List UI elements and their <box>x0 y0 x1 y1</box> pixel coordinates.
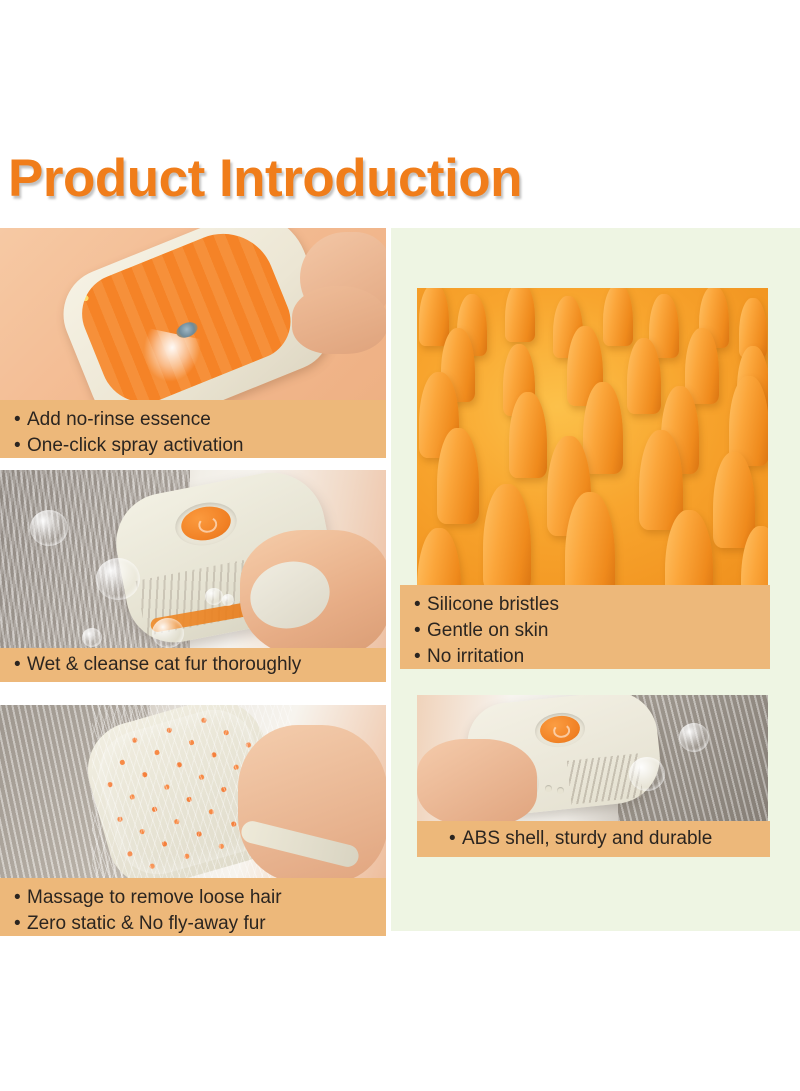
silicone-cone <box>639 430 683 530</box>
caption-line: No irritation <box>400 644 770 670</box>
water-bubble <box>152 618 184 648</box>
water-bubble <box>82 628 102 647</box>
caption-band-abs-shell: ABS shell, sturdy and durable <box>417 821 770 857</box>
caption-band-massage: Massage to remove loose hair Zero static… <box>0 878 386 936</box>
indicator-dot <box>557 787 564 794</box>
silicone-cone <box>505 288 535 342</box>
finger-shape <box>292 286 386 354</box>
silicone-cone <box>509 392 547 478</box>
water-bubble <box>222 594 234 606</box>
silicone-cone <box>603 288 633 346</box>
caption-band-spray: Add no-rinse essence One-click spray act… <box>0 400 386 458</box>
page-title: Product Introduction <box>8 152 522 205</box>
caption-line: Silicone bristles <box>400 592 770 618</box>
caption-band-wet-cleanse: Wet & cleanse cat fur thoroughly <box>0 648 386 682</box>
photo-brush-with-power-button-on-cat-fur <box>0 470 386 655</box>
hand-shape <box>238 725 386 883</box>
water-bubble <box>679 723 709 752</box>
caption-line: Wet & cleanse cat fur thoroughly <box>0 652 386 678</box>
silicone-cone <box>419 288 449 346</box>
caption-line: Add no-rinse essence <box>0 407 386 433</box>
water-bubble <box>96 558 140 600</box>
caption-line: Massage to remove loose hair <box>0 885 386 911</box>
caption-line: One-click spray activation <box>0 433 386 459</box>
water-bubble <box>30 510 68 546</box>
caption-line: Gentle on skin <box>400 618 770 644</box>
photo-abs-shell-brush-on-cat-fur <box>417 695 768 821</box>
caption-line: ABS shell, sturdy and durable <box>417 826 770 852</box>
hand-shape <box>417 739 537 821</box>
caption-line: Zero static & No fly-away fur <box>0 911 386 937</box>
silicone-cone <box>565 492 615 585</box>
indicator-dot <box>545 785 552 792</box>
spray-mist <box>125 327 210 408</box>
photo-spray-brush-on-peach-background <box>0 228 386 408</box>
photo-brush-collecting-loose-fur <box>0 705 386 883</box>
silicone-cone <box>417 528 461 585</box>
caption-band-bristles: Silicone bristles Gentle on skin No irri… <box>400 585 770 669</box>
photo-macro-silicone-cone-bristles <box>417 288 768 585</box>
silicone-cone <box>483 484 531 585</box>
water-bubble <box>629 757 665 791</box>
silicone-cone <box>583 382 623 474</box>
water-bubble <box>205 588 223 605</box>
silicone-cone <box>437 428 479 524</box>
silicone-cone <box>627 338 661 414</box>
